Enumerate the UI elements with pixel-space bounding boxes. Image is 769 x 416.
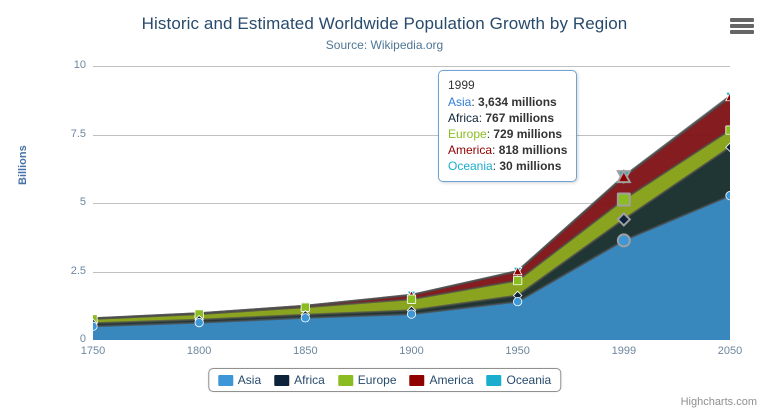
hamburger-bar-2 [730, 24, 754, 28]
legend-item-oceania[interactable]: Oceania [487, 373, 552, 387]
legend-item-label: America [430, 373, 474, 387]
point-asia-1850[interactable] [301, 314, 309, 322]
tooltip-series-value: 30 millions [499, 159, 561, 173]
hamburger-menu-icon[interactable] [729, 16, 755, 36]
tooltip-row: Africa: 767 millions [448, 110, 567, 126]
hamburger-bar-1 [730, 18, 754, 22]
legend[interactable]: AsiaAfricaEuropeAmericaOceania [208, 368, 561, 392]
x-axis-tick-label: 1850 [293, 345, 317, 357]
page-title: Historic and Estimated Worldwide Populat… [0, 14, 769, 34]
tooltip-series-name: America [448, 143, 492, 157]
legend-item-america[interactable]: America [410, 373, 474, 387]
legend-swatch-icon [410, 375, 425, 386]
legend-item-label: Asia [238, 373, 261, 387]
tooltip-series-value: 767 millions [485, 111, 554, 125]
tooltip-series-value: 729 millions [493, 127, 562, 141]
legend-swatch-icon [487, 375, 502, 386]
tooltip-series-name: Asia [448, 95, 471, 109]
highcharts-container: Historic and Estimated Worldwide Populat… [0, 0, 769, 416]
x-axis-tick-label: 1900 [399, 345, 423, 357]
tooltip-rows: Asia: 3,634 millionsAfrica: 767 millions… [448, 94, 567, 174]
tooltip-row: America: 818 millions [448, 142, 567, 158]
tooltip-separator: : [492, 143, 499, 157]
chart-subtitle: Source: Wikipedia.org [0, 38, 769, 52]
x-axis-tick-label: 1950 [505, 345, 529, 357]
x-axis-tick-label: 1999 [612, 345, 636, 357]
point-europe-1950[interactable] [513, 276, 521, 284]
tooltip-row: Europe: 729 millions [448, 126, 567, 142]
tooltip-series-name: Oceania [448, 159, 493, 173]
point-europe-1900[interactable] [407, 295, 415, 303]
point-asia-1950[interactable] [513, 297, 521, 305]
legend-item-label: Europe [358, 373, 397, 387]
point-asia-1900[interactable] [407, 310, 415, 318]
tooltip: 1999 Asia: 3,634 millionsAfrica: 767 mil… [438, 70, 577, 182]
chart-svg [93, 66, 730, 340]
plot-area [93, 66, 730, 340]
point-asia-1800[interactable] [195, 318, 203, 326]
tooltip-series-value: 3,634 millions [478, 95, 557, 109]
x-axis-labels: 1750180018501900195019992050 [0, 345, 769, 365]
y-axis-tick-label: 0 [46, 333, 86, 345]
credits-link[interactable]: Highcharts.com [681, 396, 757, 408]
legend-item-label: Africa [294, 373, 325, 387]
tooltip-separator: : [471, 95, 478, 109]
legend-swatch-icon [274, 375, 289, 386]
hamburger-bar-3 [730, 30, 754, 34]
legend-item-europe[interactable]: Europe [338, 373, 397, 387]
legend-swatch-icon [218, 375, 233, 386]
y-axis-tick-label: 2.5 [46, 265, 86, 277]
point-europe-1999[interactable] [618, 193, 630, 205]
tooltip-series-value: 818 millions [499, 143, 568, 157]
legend-item-africa[interactable]: Africa [274, 373, 325, 387]
point-europe-2050[interactable] [726, 126, 730, 134]
x-axis-tick-label: 2050 [718, 345, 742, 357]
tooltip-row: Oceania: 30 millions [448, 158, 567, 174]
tooltip-series-name: Africa [448, 111, 479, 125]
y-axis-title: Billions [17, 145, 29, 185]
y-axis-tick-label: 10 [46, 59, 86, 71]
tooltip-row: Asia: 3,634 millions [448, 94, 567, 110]
x-axis-tick-label: 1800 [187, 345, 211, 357]
tooltip-header: 1999 [448, 77, 567, 94]
legend-item-label: Oceania [507, 373, 552, 387]
tooltip-series-name: Europe [448, 127, 487, 141]
y-axis-tick-label: 7.5 [46, 128, 86, 140]
x-axis-tick-label: 1750 [81, 345, 105, 357]
legend-swatch-icon [338, 375, 353, 386]
legend-item-asia[interactable]: Asia [218, 373, 261, 387]
point-asia-1999[interactable] [618, 234, 630, 246]
y-axis-tick-label: 5 [46, 196, 86, 208]
